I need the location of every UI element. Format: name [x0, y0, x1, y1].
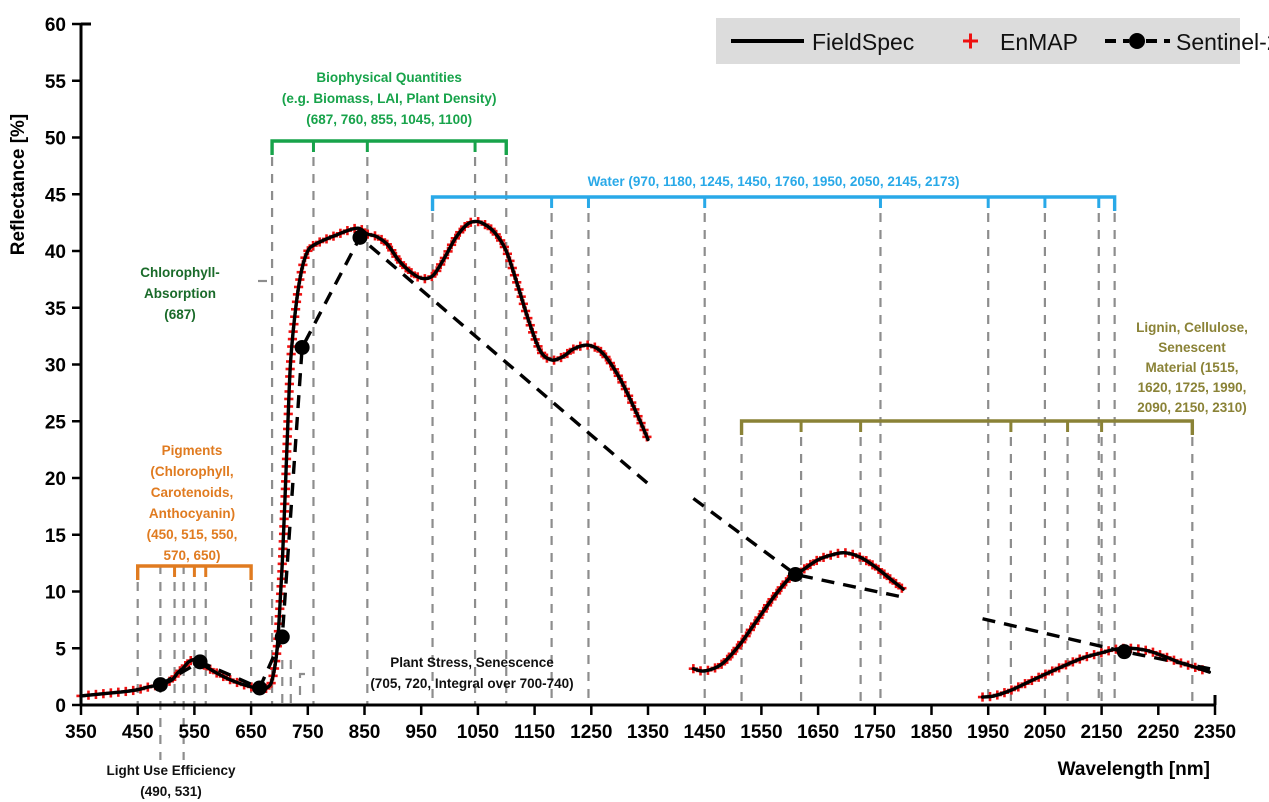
annotation-line: Chlorophyll-	[140, 265, 220, 280]
sentinel2-band-point	[252, 680, 267, 695]
annotation-line: Absorption	[144, 286, 216, 301]
sentinel2-band-point	[275, 629, 290, 644]
x-tick-label: 1550	[740, 722, 782, 743]
x-tick-label: 2350	[1194, 722, 1236, 743]
x-tick-label: 1650	[797, 722, 839, 743]
annotation-line: Plant Stress, Senescence	[390, 655, 554, 670]
sentinel2-band-point	[295, 340, 310, 355]
y-tick-label: 20	[45, 469, 66, 490]
y-tick-label: 35	[45, 299, 67, 320]
x-tick-label: 750	[292, 722, 324, 743]
annotation-line: Senescent	[1158, 340, 1226, 355]
annotation-line: (705, 720, Integral over 700-740)	[370, 676, 573, 691]
annotation-line: Anthocyanin)	[149, 506, 235, 521]
x-tick-label: 2150	[1080, 722, 1122, 743]
annotation-line: (Chlorophyll,	[150, 464, 233, 479]
annotation-line: Material (1515,	[1145, 360, 1238, 375]
chart-legend[interactable]: FieldSpecEnMAPSentinel-2	[716, 18, 1269, 64]
annotation-line: (490, 531)	[140, 784, 202, 799]
x-tick-label: 1350	[627, 722, 669, 743]
x-tick-label: 450	[122, 722, 154, 743]
annotation-line: (e.g. Biomass, LAI, Plant Density)	[282, 91, 497, 106]
chart-canvas: Biophysical Quantities(e.g. Biomass, LAI…	[0, 0, 1269, 802]
annotation-line: 2090, 2150, 2310)	[1137, 400, 1247, 415]
legend-label-fieldspec: FieldSpec	[812, 29, 914, 55]
y-tick-label: 30	[45, 356, 66, 377]
sentinel2-band-point	[352, 230, 367, 245]
annotation-line: Biophysical Quantities	[316, 70, 462, 85]
annotation-line: Carotenoids,	[151, 485, 234, 500]
y-axis-title: Reflectance [%]	[8, 114, 29, 256]
sentinel2-band-point	[788, 567, 803, 582]
y-tick-label: 40	[45, 242, 66, 263]
y-tick-label: 15	[45, 526, 67, 547]
y-tick-label: 25	[45, 412, 67, 433]
annotation-line: Lignin, Cellulose,	[1136, 320, 1248, 335]
sentinel2-band-point	[1117, 644, 1132, 659]
annotation-line: (687, 760, 855, 1045, 1100)	[306, 112, 472, 127]
x-tick-label: 650	[235, 722, 267, 743]
annotation-line: Light Use Efficiency	[106, 763, 236, 778]
x-tick-label: 850	[349, 722, 381, 743]
legend-label-enmap: EnMAP	[1000, 29, 1078, 55]
y-tick-label: 55	[45, 72, 67, 93]
y-tick-label: 50	[45, 129, 66, 150]
x-tick-label: 550	[179, 722, 211, 743]
x-tick-label: 1850	[910, 722, 952, 743]
x-axis-title: Wavelength [nm]	[1058, 759, 1210, 780]
y-tick-label: 0	[55, 696, 66, 717]
annotation-line: (687)	[164, 307, 196, 322]
plot-background	[0, 0, 1269, 802]
x-tick-label: 1450	[684, 722, 726, 743]
annotation-line: (450, 515, 550,	[147, 527, 238, 542]
y-tick-label: 60	[45, 15, 66, 36]
x-tick-label: 950	[405, 722, 437, 743]
x-tick-label: 1050	[457, 722, 499, 743]
sentinel2-band-point	[193, 654, 208, 669]
x-tick-label: 1750	[854, 722, 896, 743]
x-tick-label: 350	[65, 722, 97, 743]
annotation-line: Pigments	[162, 443, 223, 458]
legend-label-sentinel2: Sentinel-2	[1176, 29, 1269, 55]
y-tick-label: 45	[45, 185, 67, 206]
y-tick-label: 5	[55, 639, 66, 660]
reflectance-spectrum-chart: Biophysical Quantities(e.g. Biomass, LAI…	[0, 0, 1269, 802]
x-tick-label: 1150	[514, 722, 555, 743]
x-tick-label: 2050	[1024, 722, 1066, 743]
x-tick-label: 1950	[967, 722, 1009, 743]
annotation-water: Water (970, 1180, 1245, 1450, 1760, 1950…	[588, 174, 960, 189]
annotation-line: 570, 650)	[163, 548, 220, 563]
x-tick-label: 2250	[1137, 722, 1179, 743]
sentinel2-band-point	[153, 677, 168, 692]
annotation-lignin-cellulose: Lignin, Cellulose,SenescentMaterial (151…	[1136, 320, 1248, 415]
annotation-line: Water (970, 1180, 1245, 1450, 1760, 1950…	[588, 174, 960, 189]
annotation-line: 1620, 1725, 1990,	[1138, 380, 1247, 395]
y-tick-label: 10	[45, 583, 66, 604]
x-tick-label: 1250	[570, 722, 612, 743]
